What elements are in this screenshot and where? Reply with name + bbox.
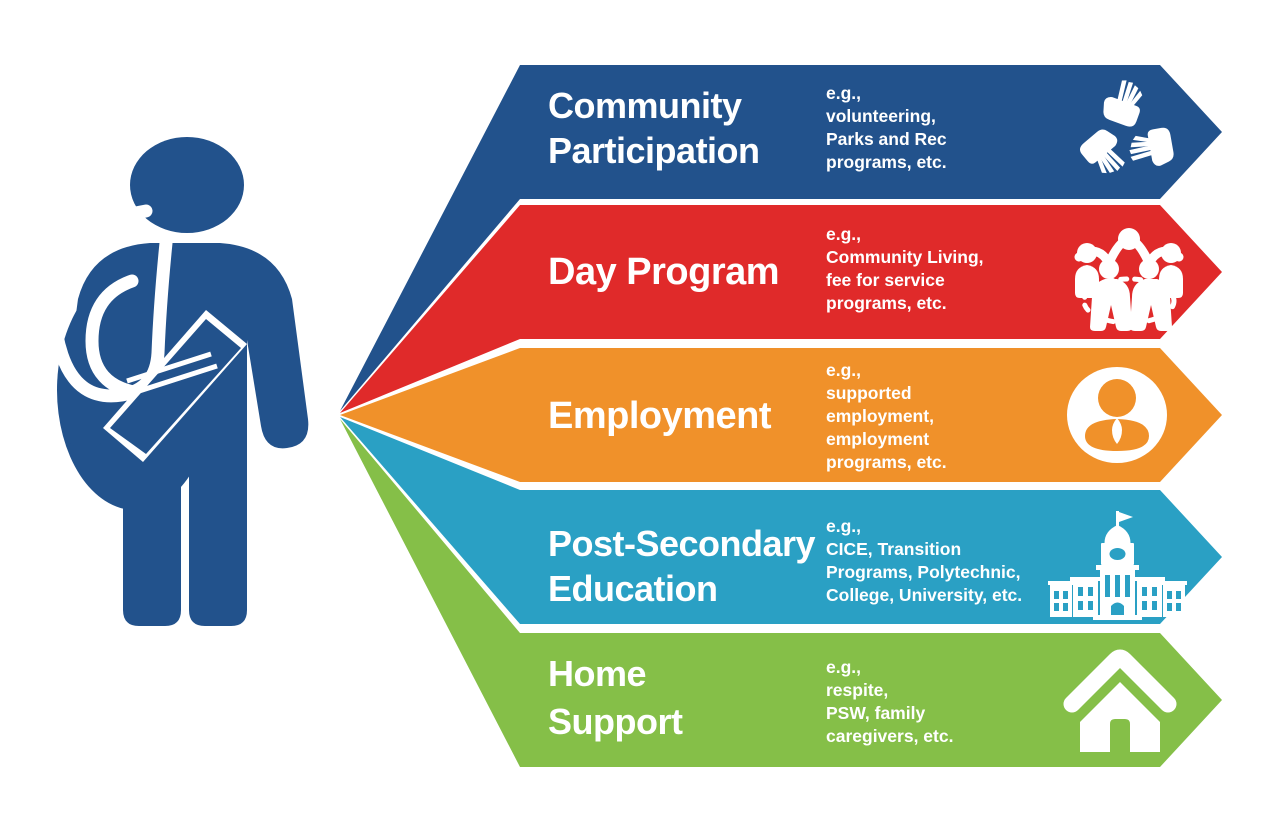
band-example-line: PSW, family xyxy=(826,703,925,723)
band-example-line: caregivers, etc. xyxy=(826,726,953,746)
band-title-line: Support xyxy=(548,701,683,742)
band-example-line: Community Living, xyxy=(826,247,984,267)
band-example-line: Programs, Polytechnic, xyxy=(826,562,1021,582)
band-example-line: supported xyxy=(826,383,912,403)
band-example-line: volunteering, xyxy=(826,106,936,126)
band-example-line: e.g., xyxy=(826,657,861,677)
band-example-line: programs, etc. xyxy=(826,293,947,313)
band-title-line: Community xyxy=(548,85,742,126)
band-example-line: e.g., xyxy=(826,516,861,536)
band-example-line: Parks and Rec xyxy=(826,129,947,149)
infographic-canvas: Community Participation e.g., volunteeri… xyxy=(0,0,1261,828)
band-title-line: Post-Secondary xyxy=(548,523,816,564)
band-example-line: College, University, etc. xyxy=(826,585,1022,605)
band-example-line: employment, xyxy=(826,406,934,426)
student-figure xyxy=(55,137,308,626)
band-example-line: e.g., xyxy=(826,360,861,380)
person-in-circle-icon xyxy=(1067,367,1167,463)
band-employment[interactable]: Employment e.g., supported employment, e… xyxy=(340,348,1222,482)
band-example-line: programs, etc. xyxy=(826,452,947,472)
figure-head xyxy=(130,137,244,233)
pathways-infographic: Community Participation e.g., volunteeri… xyxy=(0,0,1261,828)
band-example-line: respite, xyxy=(826,680,888,700)
band-title-line: Home xyxy=(548,653,646,694)
band-example-line: programs, etc. xyxy=(826,152,947,172)
band-title-line: Participation xyxy=(548,130,760,171)
band-example-line: employment xyxy=(826,429,929,449)
band-title-line: Education xyxy=(548,568,718,609)
band-example-line: CICE, Transition xyxy=(826,539,961,559)
band-example-line: fee for service xyxy=(826,270,945,290)
band-title-employment: Employment xyxy=(548,395,772,437)
band-title-day-program: Day Program xyxy=(548,251,779,293)
band-example-line: e.g., xyxy=(826,83,861,103)
band-example-line: e.g., xyxy=(826,224,861,244)
